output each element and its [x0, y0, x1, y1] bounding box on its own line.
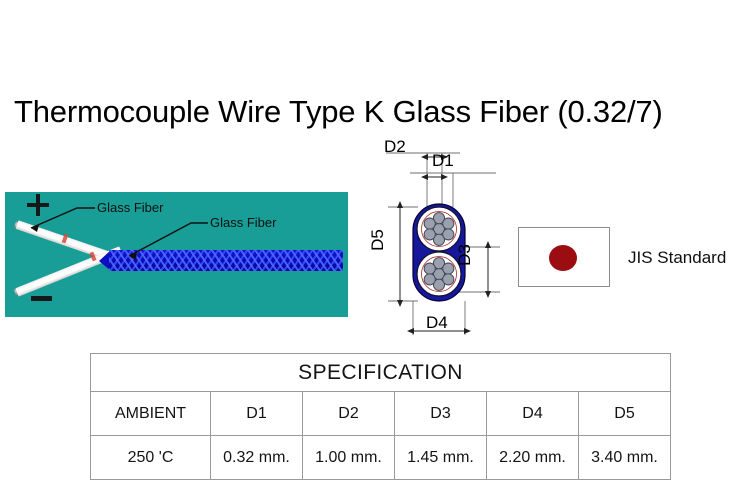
page-title: Thermocouple Wire Type K Glass Fiber (0.…: [14, 94, 663, 130]
dimension-label-d3: D3: [455, 244, 475, 266]
specification-table: SPECIFICATION AMBIENT D1 D2 D3 D4 D5 250…: [90, 353, 671, 480]
value-d4: 2.20 mm.: [487, 436, 579, 480]
japan-flag-icon: [518, 227, 610, 287]
column-header-d5: D5: [579, 392, 671, 436]
column-header-d2: D2: [303, 392, 395, 436]
dimension-label-d5: D5: [368, 229, 388, 251]
flag-disc: [549, 245, 577, 271]
value-d2: 1.00 mm.: [303, 436, 395, 480]
column-header-d1: D1: [211, 392, 303, 436]
column-header-d3: D3: [395, 392, 487, 436]
jis-standard-label: JIS Standard: [628, 248, 726, 268]
table-header-row: AMBIENT D1 D2 D3 D4 D5: [91, 392, 671, 436]
dimension-label-d1: D1: [432, 151, 454, 171]
cross-section-drawing: D2 D1 D5 D3 D4: [370, 135, 515, 350]
value-d5: 3.40 mm.: [579, 436, 671, 480]
spec-title: SPECIFICATION: [91, 354, 671, 392]
glass-fiber-label-2: Glass Fiber: [210, 215, 276, 230]
column-header-d4: D4: [487, 392, 579, 436]
glass-fiber-label-1: Glass Fiber: [97, 200, 163, 215]
table-title-row: SPECIFICATION: [91, 354, 671, 392]
diagram-canvas: Thermocouple Wire Type K Glass Fiber (0.…: [0, 0, 740, 489]
value-ambient: 250 'C: [91, 436, 211, 480]
value-d3: 1.45 mm.: [395, 436, 487, 480]
wire-product-photo: Glass Fiber Glass Fiber: [5, 192, 348, 317]
dimension-label-d4: D4: [426, 313, 448, 333]
photo-leader-lines: [5, 192, 348, 317]
column-header-ambient: AMBIENT: [91, 392, 211, 436]
table-row: 250 'C 0.32 mm. 1.00 mm. 1.45 mm. 2.20 m…: [91, 436, 671, 480]
dimension-label-d2: D2: [384, 137, 406, 157]
value-d1: 0.32 mm.: [211, 436, 303, 480]
